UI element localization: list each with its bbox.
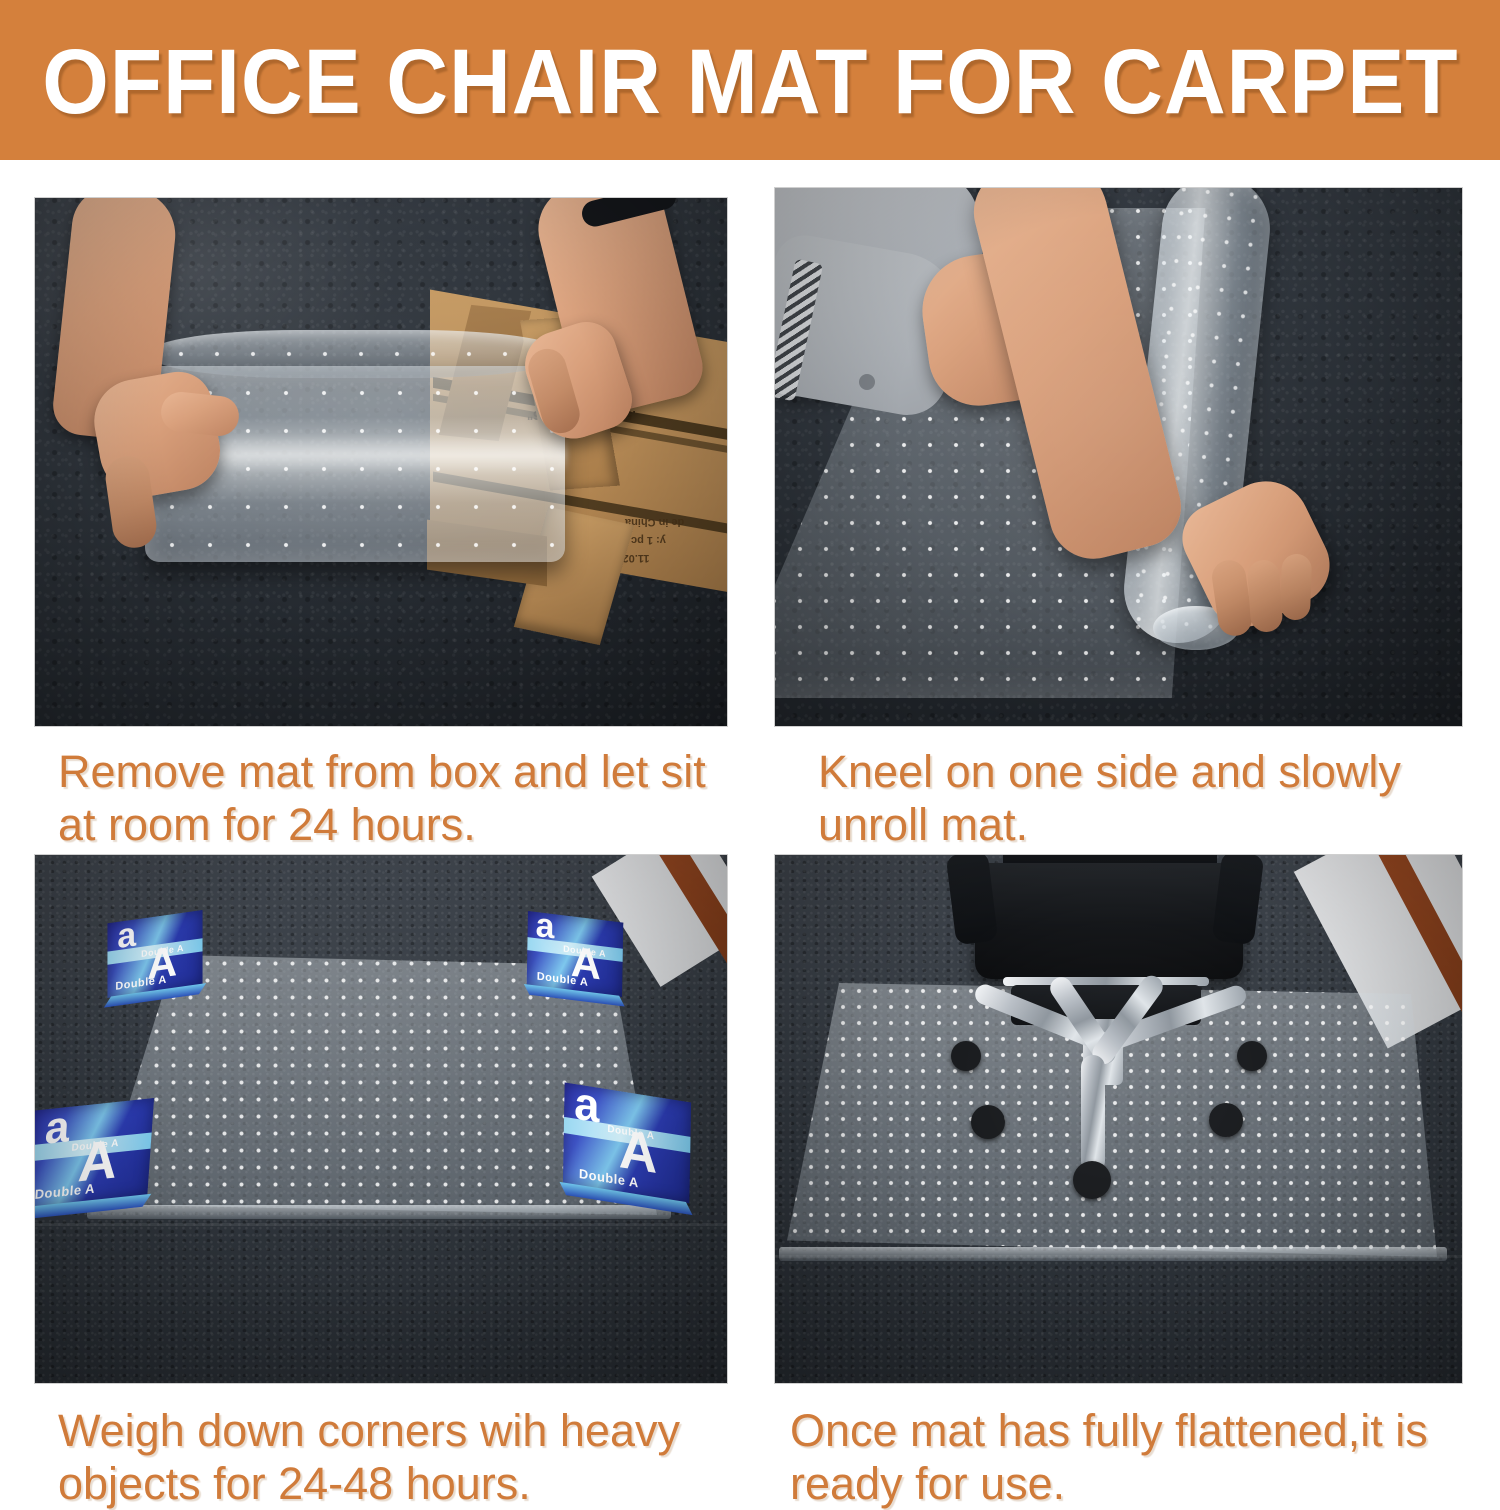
chair-caster [951, 1041, 981, 1071]
step-3-photo: a A Double A Double A a A Double A Doubl… [35, 855, 727, 1383]
chair-base-leg-front [1081, 1055, 1105, 1173]
rolled-mat-edge [147, 330, 567, 378]
step-3-caption: Weigh down corners wih heavy objects for… [58, 1404, 748, 1510]
step-1-caption: Remove mat from box and let sit at room … [58, 745, 748, 851]
ream-logo-a: a [44, 1109, 71, 1147]
mat-front-edge [87, 1205, 671, 1219]
step-1-photo: de in China y: 1 pc 11.02/9.92 LBS .51"x… [35, 198, 727, 726]
ream-logo-a: a [117, 921, 136, 951]
ream-logo-a: a [535, 912, 554, 942]
step-4-caption: Once mat has fully flattened,it is ready… [790, 1404, 1490, 1510]
step-4-photo [775, 855, 1462, 1383]
paper-ream-bottom-left: a A Double A Double A [35, 1098, 154, 1208]
chair-seat [975, 863, 1243, 979]
paper-ream-top-left: a A Double A Double A [107, 910, 202, 998]
paper-ream-bottom-right: a A Double A Double A [563, 1083, 691, 1204]
finger [1280, 553, 1312, 620]
chair-caster [1237, 1041, 1267, 1071]
chair-caster [1209, 1103, 1243, 1137]
paper-ream-top-right: a A Double A Double A [527, 911, 624, 997]
mat-stud-texture-edge [163, 342, 551, 364]
header-banner: OFFICE CHAIR MAT FOR CARPET [0, 0, 1500, 160]
chair-caster [971, 1105, 1005, 1139]
mat-front-edge [779, 1247, 1447, 1261]
step-2-photo [775, 188, 1462, 726]
chair-caster-front [1073, 1161, 1111, 1199]
step-2-caption: Kneel on one side and slowly unroll mat. [818, 745, 1478, 851]
sweatpants-button [859, 374, 875, 390]
carpet-seam [35, 1223, 727, 1226]
finger [1247, 559, 1284, 633]
page-title: OFFICE CHAIR MAT FOR CARPET [42, 36, 1458, 128]
box-label-qty-2: y: 1 pc [631, 534, 666, 546]
ream-logo-a: a [574, 1084, 600, 1125]
